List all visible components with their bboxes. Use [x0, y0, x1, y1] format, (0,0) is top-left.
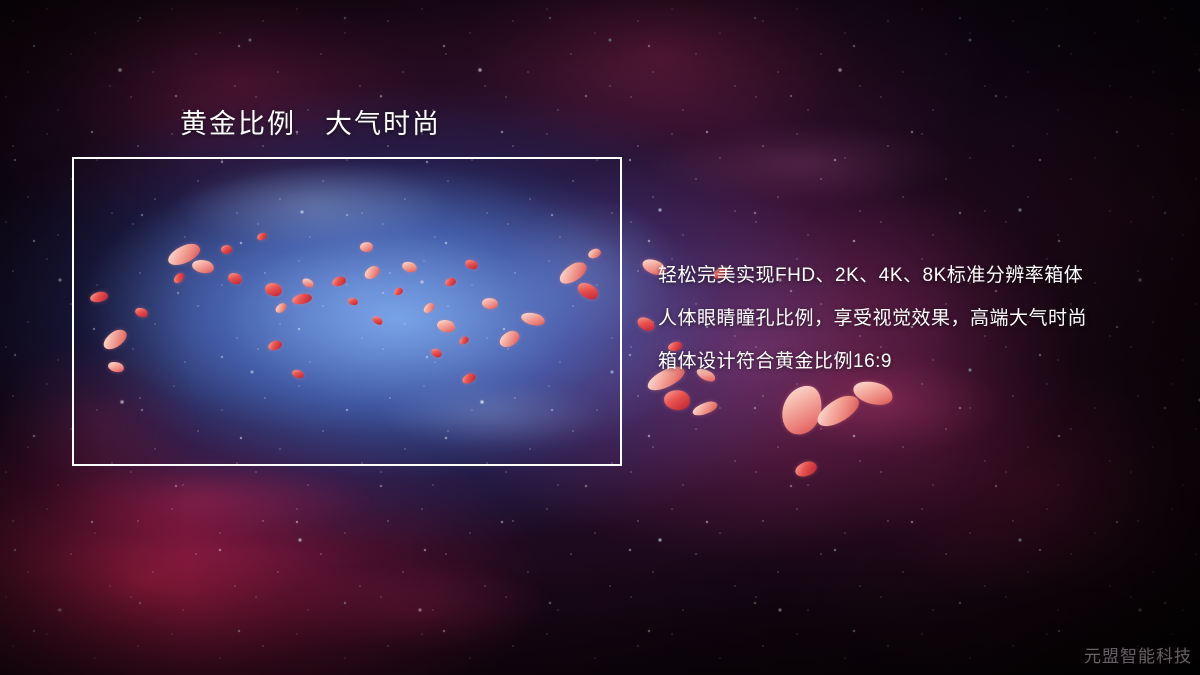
flower-petal — [263, 280, 284, 299]
flower-petal — [134, 306, 150, 320]
flower-petal — [520, 310, 546, 328]
framed-starfield-small — [72, 157, 622, 466]
flower-petal — [359, 241, 373, 253]
flower-petal — [100, 326, 130, 352]
display-frame-mockup — [72, 157, 622, 466]
flower-petal — [444, 277, 456, 287]
flower-petal — [256, 232, 267, 241]
flower-petal — [497, 328, 522, 349]
flower-petal — [301, 276, 315, 289]
body-line-1: 轻松完美实现FHD、2K、4K、8K标准分辨率箱体 — [658, 254, 1178, 297]
flower-petal — [461, 372, 477, 385]
watermark-label: 元盟智能科技 — [1084, 642, 1192, 667]
flower-petal — [191, 258, 215, 276]
body-line-3: 箱体设计符合黄金比例16:9 — [658, 340, 1178, 383]
flower-petal — [172, 271, 186, 285]
body-line-2: 人体眼睛瞳孔比例，享受视觉效果，高端大气时尚 — [658, 297, 1178, 340]
framed-starfield-large — [72, 157, 622, 466]
flower-petal — [662, 387, 692, 413]
flower-petal — [436, 318, 457, 335]
body-copy-block: 轻松完美实现FHD、2K、4K、8K标准分辨率箱体 人体眼睛瞳孔比例，享受视觉效… — [658, 254, 1178, 383]
flower-petal — [274, 302, 288, 315]
flower-petal — [291, 293, 312, 306]
flower-petal — [587, 247, 602, 259]
flower-petal — [635, 314, 657, 334]
flower-petal — [794, 460, 819, 479]
framed-starfield-medium — [72, 157, 622, 466]
flower-petal — [813, 390, 864, 431]
flower-petal — [778, 382, 826, 439]
framed-nebula-wisps — [72, 157, 622, 466]
flower-petal — [347, 297, 359, 307]
framed-vignette-overlay — [72, 157, 622, 466]
flower-petal — [226, 270, 244, 287]
flower-petal — [575, 279, 601, 303]
flower-petal — [393, 287, 404, 296]
flower-petal — [691, 399, 719, 417]
flower-petal — [362, 264, 381, 281]
flower-petal — [89, 291, 108, 303]
flower-petal — [291, 368, 305, 380]
flower-petal — [481, 296, 499, 310]
page-title: 黄金比例 大气时尚 — [180, 102, 441, 141]
framed-nebula-background — [72, 157, 622, 466]
flower-petal — [331, 276, 347, 288]
flower-petal — [107, 360, 125, 374]
flower-petal — [422, 301, 436, 314]
flower-petal — [371, 314, 384, 326]
flower-petal — [220, 244, 232, 255]
presentation-slide: 黄金比例 大气时尚 轻松完美实现FHD、2K、4K、8K标准分辨率箱体 人体眼睛… — [0, 0, 1200, 675]
flower-petal — [267, 339, 283, 351]
flower-petal — [464, 257, 480, 271]
flower-petal — [401, 260, 419, 275]
flower-petal — [165, 240, 203, 268]
flower-petal — [430, 347, 444, 360]
flower-petal — [556, 259, 590, 288]
display-frame-content — [72, 157, 622, 466]
flower-petal — [458, 335, 470, 346]
